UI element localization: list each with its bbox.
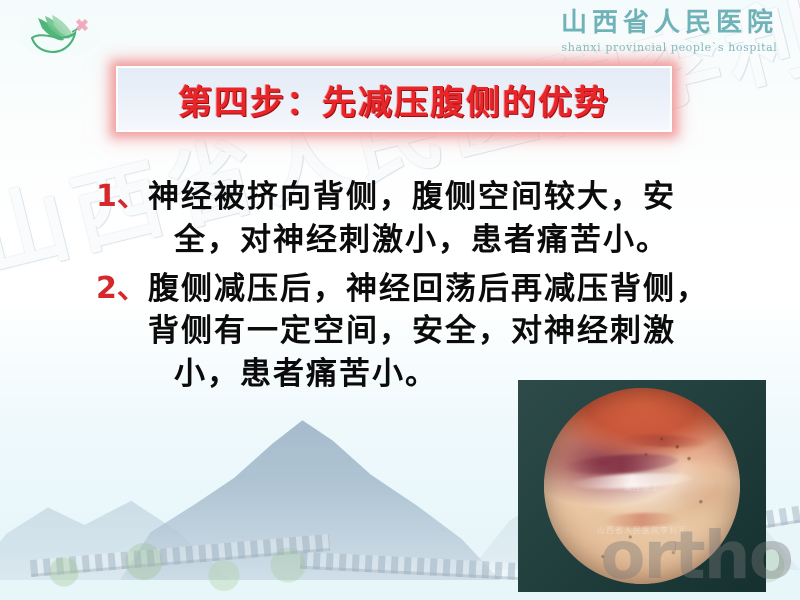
list-item-marker: 2、 bbox=[96, 268, 148, 309]
list-item-line: 背侧有一定空间，安全，对神经刺激 bbox=[148, 313, 676, 349]
tissue-streak bbox=[603, 512, 682, 528]
list-item-text: 腹侧减压后，神经回荡后再减压背侧， 背侧有一定空间，安全，对神经刺激 小，患者痛… bbox=[148, 268, 772, 396]
background-trees-left bbox=[0, 530, 320, 600]
slide-title-text: 第四步：先减压腹侧的优势 bbox=[178, 75, 610, 124]
list-item-line: 腹侧减压后，神经回荡后再减压背侧， bbox=[148, 271, 709, 307]
list-item-line: 小，患者痛苦小。 bbox=[148, 353, 438, 396]
endoscope-caption-bottom: 山西省人民医院李利军 bbox=[544, 525, 740, 536]
slide-body-list: 1、 神经被挤向背侧，腹侧空间较大，安 全，对神经刺激小，患者痛苦小。 2、 腹… bbox=[96, 176, 772, 402]
presentation-slide: 山西省人民医院李利军 山西省人民医院 shanxi provincial peo… bbox=[0, 0, 800, 600]
list-item: 2、 腹侧减压后，神经回荡后再减压背侧， 背侧有一定空间，安全，对神经刺激 小，… bbox=[96, 268, 772, 396]
background-mountain-left bbox=[0, 470, 230, 580]
endoscopic-view-photo: 减压放工 山西省人民医院李利军 bbox=[518, 380, 766, 592]
endoscope-caption-top: 减压放工 bbox=[544, 482, 740, 493]
dove-with-cross-logo bbox=[18, 8, 100, 60]
list-item-line: 全，对神经刺激小，患者痛苦小。 bbox=[148, 219, 669, 262]
hospital-name-block: 山西省人民医院 shanxi provincial people`s hospi… bbox=[561, 10, 778, 53]
slide-title-banner: 第四步：先减压腹侧的优势 bbox=[116, 66, 672, 132]
hospital-name-chinese: 山西省人民医院 bbox=[561, 10, 778, 36]
background-mountain-main bbox=[120, 410, 500, 580]
list-item-marker: 1、 bbox=[96, 176, 148, 217]
hospital-name-english: shanxi provincial people`s hospital bbox=[561, 42, 778, 53]
tissue-streak bbox=[563, 451, 678, 477]
list-item-text: 神经被挤向背侧，腹侧空间较大，安 全，对神经刺激小，患者痛苦小。 bbox=[148, 176, 772, 262]
tissue-streak bbox=[618, 433, 709, 448]
background-great-wall-segment bbox=[30, 534, 330, 577]
list-item: 1、 神经被挤向背侧，腹侧空间较大，安 全，对神经刺激小，患者痛苦小。 bbox=[96, 176, 772, 262]
endoscope-circular-view: 减压放工 山西省人民医院李利军 bbox=[544, 388, 740, 584]
list-item-line: 神经被挤向背侧，腹侧空间较大，安 bbox=[148, 179, 676, 215]
tissue-highlight bbox=[571, 471, 693, 491]
